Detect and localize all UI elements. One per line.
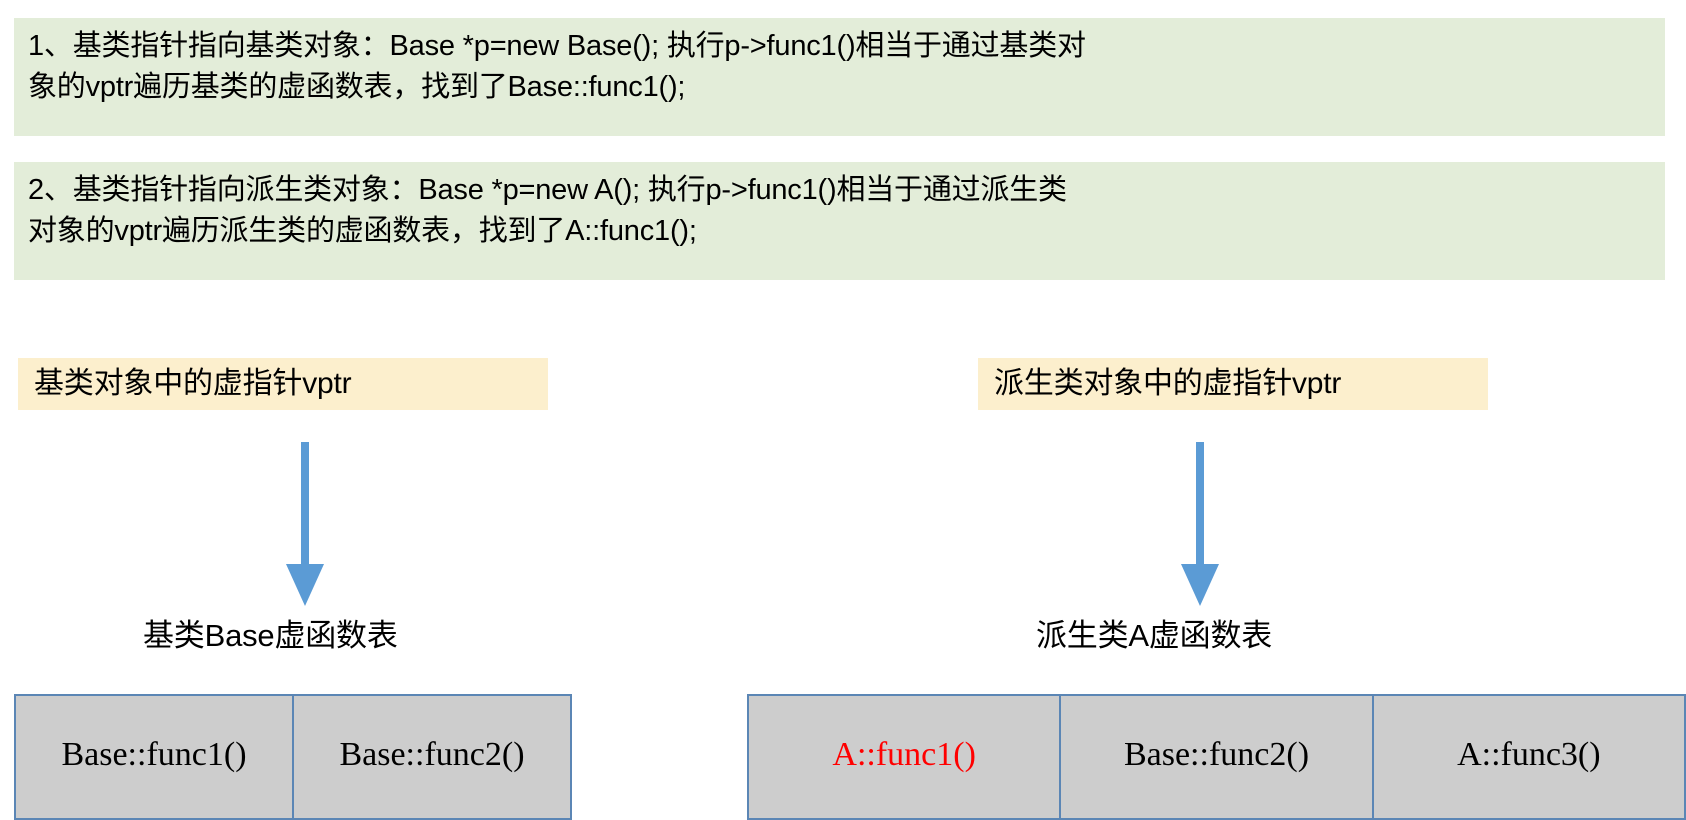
vtable-cell: A::func3() [1374,696,1684,818]
derived-object-vptr-label: 派生类对象中的虚指针vptr [978,358,1488,410]
note-base-pointer-derived-object: 2、基类指针指向派生类对象：Base *p=new A(); 执行p->func… [14,162,1665,280]
down-arrow-icon [1177,442,1223,608]
base-object-vptr-label: 基类对象中的虚指针vptr [18,358,548,410]
note-line: 2、基类指针指向派生类对象：Base *p=new A(); 执行p->func… [28,170,1651,211]
note-base-pointer-base-object: 1、基类指针指向基类对象：Base *p=new Base(); 执行p->fu… [14,18,1665,136]
base-vtable: Base::func1() Base::func2() [14,694,572,820]
note-line: 对象的vptr遍历派生类的虚函数表，找到了A::func1(); [28,211,1651,252]
vtable-cell: Base::func2() [294,696,570,818]
derived-vtable: A::func1() Base::func2() A::func3() [747,694,1686,820]
vtable-cell: Base::func2() [1061,696,1373,818]
vtable-cell: A::func1() [749,696,1061,818]
note-line: 1、基类指针指向基类对象：Base *p=new Base(); 执行p->fu… [28,26,1651,67]
note-line: 象的vptr遍历基类的虚函数表，找到了Base::func1(); [28,67,1651,108]
derived-vtable-caption: 派生类A虚函数表 [1036,620,1272,651]
down-arrow-icon [282,442,328,608]
base-vtable-caption: 基类Base虚函数表 [143,620,398,651]
vtable-cell: Base::func1() [16,696,294,818]
